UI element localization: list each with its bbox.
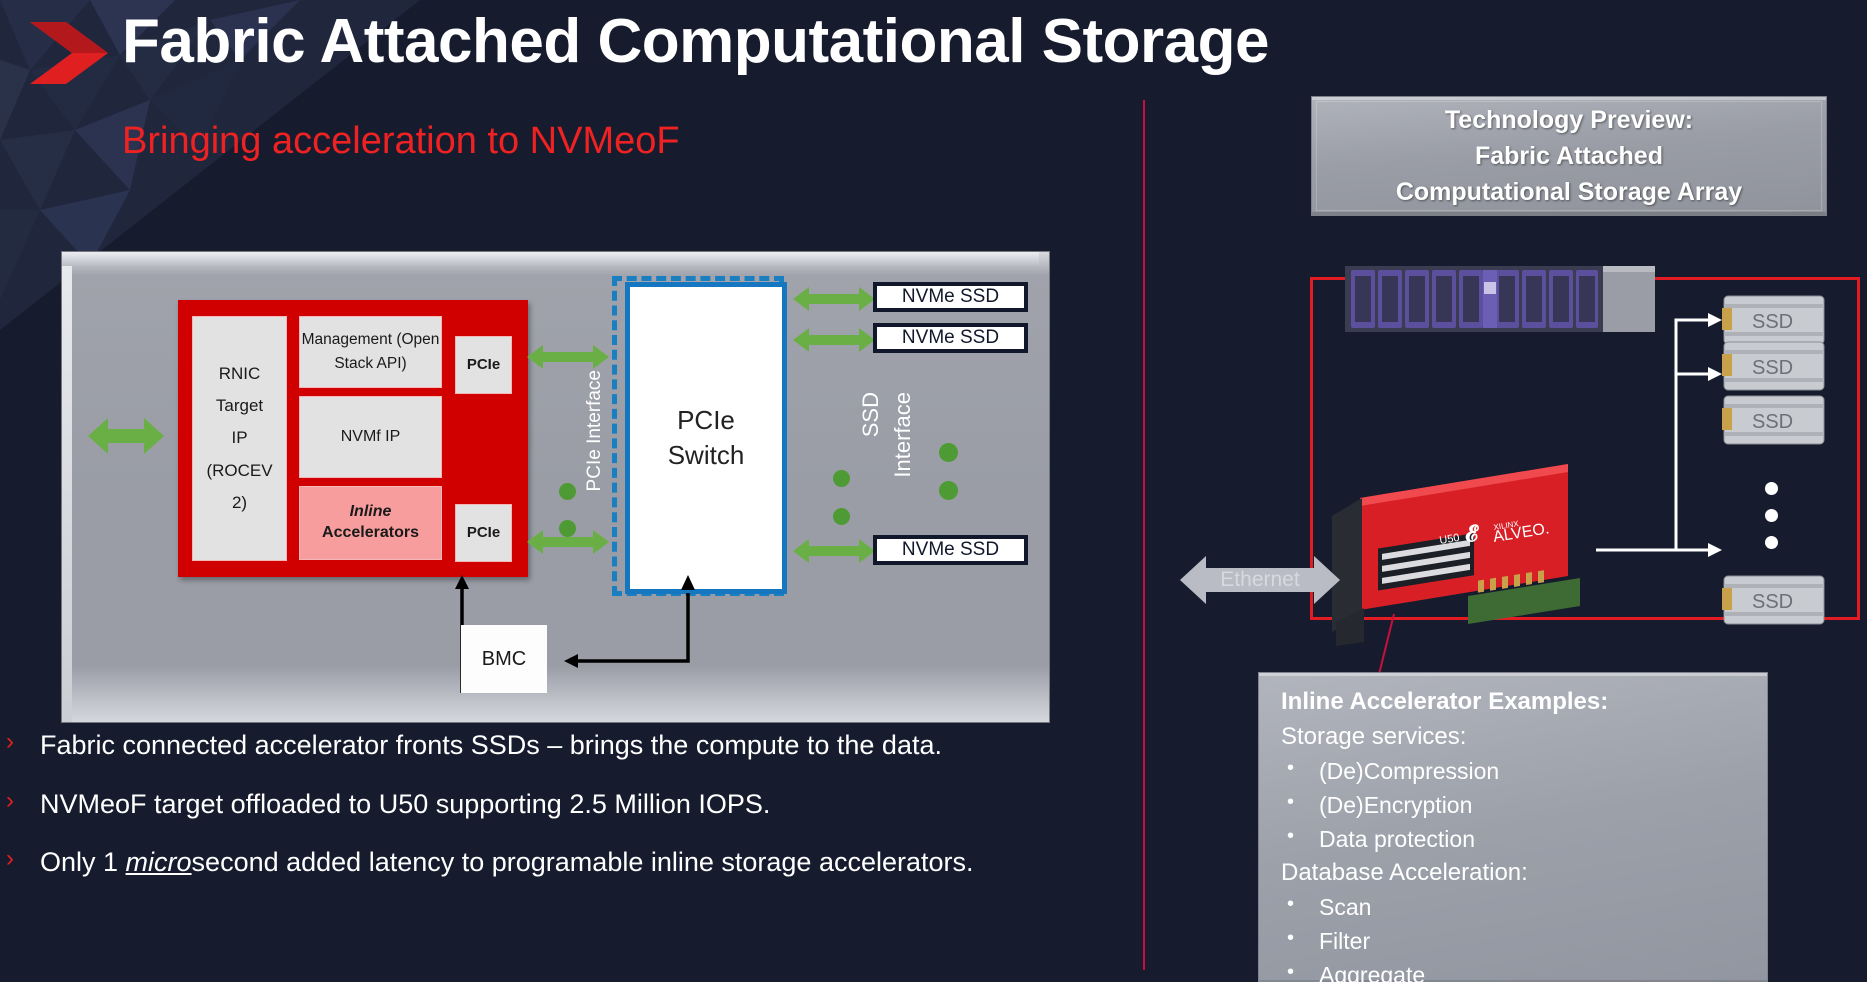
ssd-arrow-3-icon	[793, 537, 875, 565]
ssd-lane-dot	[833, 470, 850, 487]
svg-text:SSD: SSD	[1752, 591, 1793, 613]
bullet-text-post: second added latency to programable inli…	[192, 847, 974, 877]
accel-group2-item: Aggregate	[1281, 961, 1745, 982]
accel-group2-title: Database Acceleration:	[1281, 858, 1745, 888]
tech-preview-line3: Computational Storage Array	[1396, 174, 1742, 210]
vertical-divider	[1143, 100, 1145, 970]
pcie-switch-block: PCIe Switch	[625, 282, 787, 594]
rnic-target-block: RNIC Target IP (ROCEV 2)	[192, 316, 287, 561]
ssd-chip-photo: SSD	[1722, 572, 1826, 628]
inline-accel-line1: Inline	[350, 502, 392, 523]
pcie-port-top-label: PCIe	[467, 353, 500, 376]
pcie-lane-dot	[559, 520, 576, 537]
ssd-arrow-2-icon	[793, 326, 875, 354]
accel-group1-item: (De)Compression	[1281, 757, 1745, 786]
rnic-line-4: 2)	[232, 487, 247, 519]
bullet-text-composite: Only 1 microsecond added latency to prog…	[40, 847, 974, 877]
svg-text:SSD: SSD	[1752, 411, 1793, 433]
soc-block: RNIC Target IP (ROCEV 2) Management (Ope…	[178, 300, 528, 577]
bmc-label: BMC	[482, 648, 526, 671]
bullet-chevron-icon: ›	[6, 789, 14, 813]
nvme-ssd-label: NVMe SSD	[902, 327, 999, 349]
rnic-line-3: (ROCEV	[206, 455, 272, 487]
chevron-logo-icon	[28, 18, 110, 88]
nvme-ssd-box: NVMe SSD	[873, 282, 1028, 312]
bullet-chevron-icon: ›	[6, 730, 14, 754]
ssd-vertical-ellipsis	[1765, 468, 1778, 563]
bullet-chevron-icon: ›	[6, 847, 14, 871]
accel-group2-item: Scan	[1281, 893, 1745, 922]
tech-preview-line1: Technology Preview:	[1445, 102, 1693, 138]
accel-heading: Inline Accelerator Examples:	[1281, 687, 1745, 717]
accel-group2-item: Filter	[1281, 927, 1745, 956]
svg-text:SSD: SSD	[1752, 357, 1793, 379]
list-item: › NVMeoF target offloaded to U50 support…	[0, 787, 1130, 822]
rnic-line-1: Target	[216, 390, 263, 422]
rnic-line-2: IP	[231, 422, 247, 454]
pcie-switch-line1: PCIe	[668, 403, 745, 438]
ssd-chip-photo: SSD	[1722, 392, 1826, 448]
bullet-text-pre: Only 1	[40, 847, 126, 877]
accel-group1-item: (De)Encryption	[1281, 791, 1745, 820]
slide-root: Fabric Attached Computational Storage Br…	[0, 0, 1867, 982]
pcie-switch-line2: Switch	[668, 438, 745, 473]
nvme-ssd-box: NVMe SSD	[873, 323, 1028, 353]
bullet-text-emphasis: micro	[126, 847, 192, 877]
pcie-lane-dot	[559, 483, 576, 500]
ssd-interface-label: Interface	[890, 392, 916, 478]
bullet-list: › Fabric connected accelerator fronts SS…	[0, 728, 1130, 904]
inline-accelerator-examples-box: Inline Accelerator Examples: Storage ser…	[1258, 672, 1768, 982]
page-title: Fabric Attached Computational Storage	[122, 6, 1269, 77]
ssd-chip-photo: SSD	[1722, 338, 1826, 394]
bullet-text: NVMeoF target offloaded to U50 supportin…	[40, 789, 770, 819]
rnic-line-0: RNIC	[219, 358, 261, 390]
accel-group1-title: Storage services:	[1281, 722, 1745, 752]
pcie-port-top: PCIe	[455, 336, 512, 394]
ssd-label-vertical: SSD	[858, 392, 884, 437]
tech-preview-line2: Fabric Attached	[1475, 138, 1663, 174]
nvmf-ip-block: NVMf IP	[299, 396, 442, 478]
nvme-ssd-box: NVMe SSD	[873, 535, 1028, 565]
ethernet-arrow-icon	[1180, 552, 1340, 608]
list-item: › Only 1 microsecond added latency to pr…	[0, 845, 1130, 880]
pcie-arrow-top-icon	[527, 343, 609, 371]
management-label: Management (Open Stack API)	[300, 328, 441, 376]
list-item: › Fabric connected accelerator fronts SS…	[0, 728, 1130, 763]
ssd-arrow-1-icon	[793, 285, 875, 313]
management-block: Management (Open Stack API)	[299, 316, 442, 388]
bmc-block: BMC	[461, 625, 547, 693]
page-subtitle: Bringing acceleration to NVMeoF	[122, 120, 680, 163]
nvme-ssd-label: NVMe SSD	[902, 286, 999, 308]
nvme-ssd-label: NVMe SSD	[902, 539, 999, 561]
inline-accelerators-block: Inline Accelerators	[299, 486, 442, 560]
bullet-text: Fabric connected accelerator fronts SSDs…	[40, 730, 942, 760]
pcie-port-bottom-label: PCIe	[467, 521, 500, 544]
ssd-ellipsis-dot	[939, 481, 958, 500]
pcie-port-bottom: PCIe	[455, 504, 512, 562]
fabric-arrow-icon	[88, 412, 164, 460]
accel-group1-item: Data protection	[1281, 825, 1745, 854]
technology-preview-banner: Technology Preview: Fabric Attached Comp…	[1311, 96, 1827, 216]
svg-text:SSD: SSD	[1752, 311, 1793, 333]
ssd-ellipsis-dot	[939, 443, 958, 462]
inline-accel-line2: Accelerators	[322, 523, 419, 544]
nvmf-ip-label: NVMf IP	[341, 425, 401, 450]
ssd-lane-dot	[833, 508, 850, 525]
alveo-u50-card-photo: U50 𝓔 XILINX ALVEO.	[1318, 446, 1590, 646]
pcie-interface-label: PCIe Interface	[584, 370, 606, 491]
